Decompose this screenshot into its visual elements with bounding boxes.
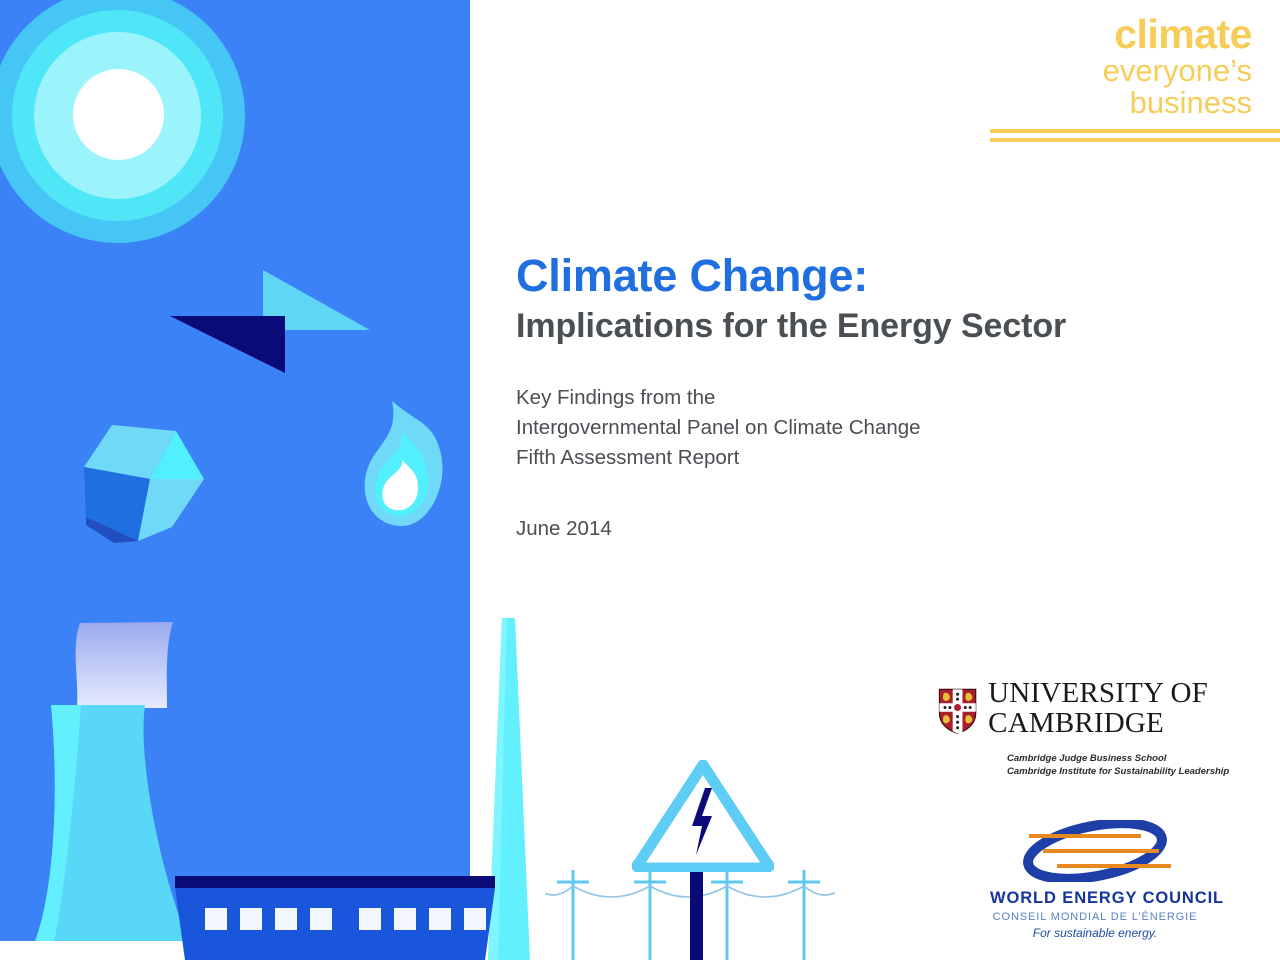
cambridge-logo: UNIVERSITY OF CAMBRIDGE Cambridge Judge … [938, 678, 1208, 779]
wec-subtitle: CONSEIL MONDIAL DE L’ÉNERGIE [990, 911, 1200, 923]
key-findings-line-1: Key Findings from the [516, 383, 1216, 413]
logo-line-business: business [960, 87, 1280, 120]
climate-logo: climate everyone’s business [960, 14, 1280, 142]
cambridge-tagline-1: Cambridge Judge Business School [1007, 753, 1208, 766]
key-findings-block: Key Findings from the Intergovernmental … [516, 383, 1216, 473]
building-window [464, 908, 486, 930]
gem-icon [80, 417, 208, 545]
steam-icon [55, 620, 195, 710]
building-window [359, 908, 381, 930]
title-block: Climate Change: Implications for the Ene… [516, 250, 1216, 541]
sign-post [690, 860, 703, 960]
artwork-panel [0, 0, 470, 941]
logo-line-everyones: everyone’s [960, 55, 1280, 87]
logo-line-climate: climate [960, 14, 1280, 55]
world-energy-council-logo: WORLD ENERGY COUNCIL CONSEIL MONDIAL DE … [990, 820, 1200, 940]
cambridge-crest-icon [938, 678, 977, 744]
key-findings-line-2: Intergovernmental Panel on Climate Chang… [516, 413, 1216, 443]
building-window [240, 908, 262, 930]
building-roof [175, 876, 495, 888]
cambridge-line-2: CAMBRIDGE [988, 709, 1208, 739]
logo-rule-bottom [990, 138, 1280, 142]
building-window [275, 908, 297, 930]
building-window [429, 908, 451, 930]
publication-date: June 2014 [516, 517, 1216, 541]
building-window [394, 908, 416, 930]
wec-tagline: For sustainable energy. [990, 926, 1200, 940]
page-title: Climate Change: [516, 250, 1216, 302]
wind-arrow-icon [165, 268, 395, 373]
slide-canvas: climate everyone’s business Climate Chan… [0, 0, 1280, 960]
cambridge-line-1: UNIVERSITY OF [988, 679, 1208, 709]
cambridge-tagline-2: Cambridge Institute for Sustainability L… [1007, 766, 1208, 779]
power-station-building [175, 876, 495, 960]
wec-title: WORLD ENERGY COUNCIL [990, 889, 1200, 908]
electricity-warning-sign [632, 760, 774, 872]
building-window [205, 908, 227, 930]
building-window [310, 908, 332, 930]
flame-icon [358, 398, 454, 528]
wec-emblem-icon [1009, 820, 1181, 882]
page-subtitle: Implications for the Energy Sector [516, 306, 1216, 347]
key-findings-line-3: Fifth Assessment Report [516, 443, 1216, 473]
sun-core [73, 69, 164, 160]
logo-rule-top [990, 129, 1280, 133]
